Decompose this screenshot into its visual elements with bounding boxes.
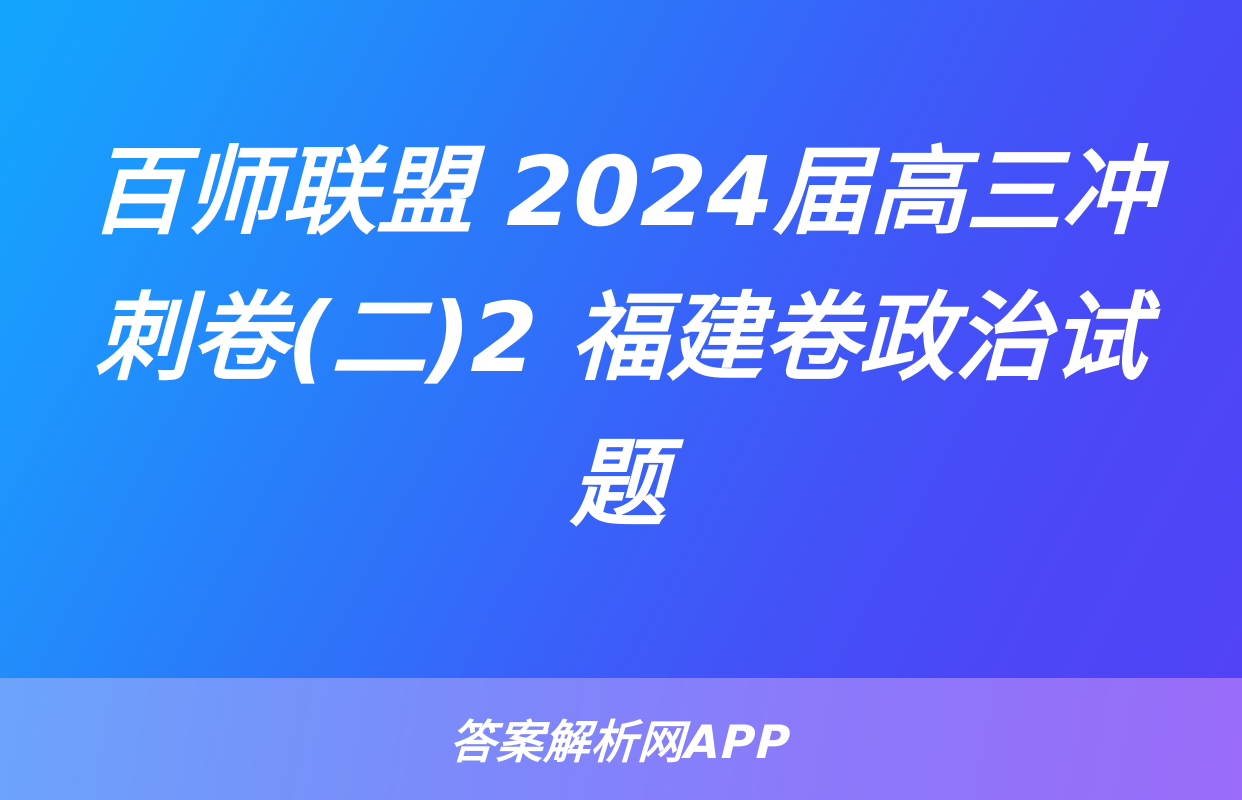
promo-card: 百师联盟 2024届高三冲刺卷(二)2 福建卷政治试题 答案解析网APP bbox=[0, 0, 1242, 800]
title-block: 百师联盟 2024届高三冲刺卷(二)2 福建卷政治试题 bbox=[60, 0, 1182, 678]
watermark-band: 答案解析网APP bbox=[0, 678, 1242, 800]
page-title: 百师联盟 2024届高三冲刺卷(二)2 福建卷政治试题 bbox=[72, 120, 1170, 558]
watermark-label: 答案解析网APP bbox=[449, 706, 793, 772]
